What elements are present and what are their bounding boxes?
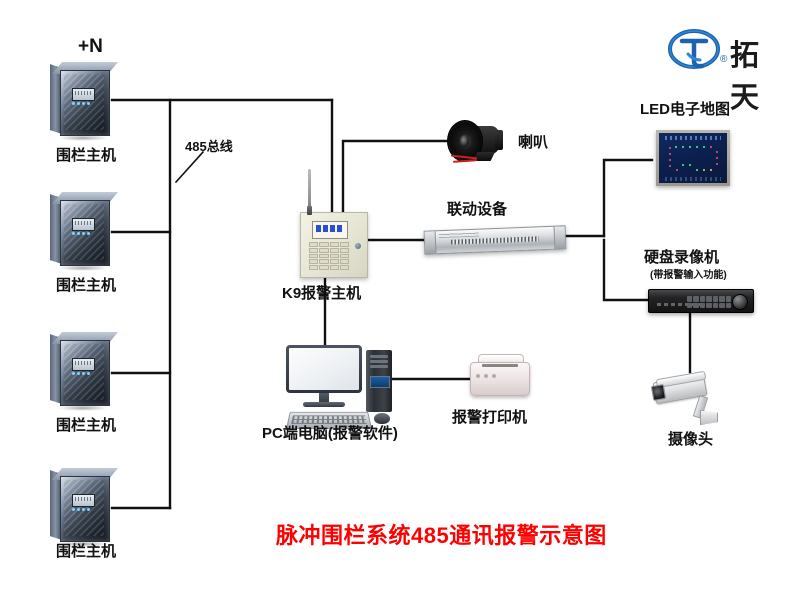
antenna-icon: [308, 169, 311, 215]
camera-mount-base: [700, 410, 718, 425]
fence-host-label-4: 围栏主机: [56, 540, 116, 561]
monitor-screen: [289, 348, 359, 390]
fence-host-icon-1[interactable]: [50, 62, 112, 138]
siren-cap: [495, 130, 503, 150]
monitor-icon[interactable]: [286, 345, 362, 393]
trademark-symbol: ®: [720, 54, 727, 65]
fence-host-indicator-lights: [72, 102, 93, 106]
tuotian-logo-icon: [668, 28, 724, 70]
camera-lens: [651, 384, 666, 401]
printer-paper-slot: [482, 364, 518, 367]
printer-body: [470, 362, 530, 396]
linkage-device-label: 联动设备: [447, 198, 507, 219]
brand-name: 拓天: [730, 32, 761, 116]
desktop-computer-icon[interactable]: [286, 345, 406, 431]
camera-label: 摄像头: [668, 428, 713, 449]
thermal-printer-icon[interactable]: [470, 354, 530, 396]
rack-ear-right: [554, 226, 566, 248]
dvr-label: 硬盘录像机: [644, 246, 719, 267]
fence-host-indicator-lights: [72, 232, 93, 236]
fence-host-icon-2[interactable]: [50, 192, 112, 268]
k9-keypad[interactable]: [309, 242, 349, 270]
dvr-jog-dial[interactable]: [732, 294, 748, 310]
fence-host-indicator-lights: [72, 508, 93, 512]
cctv-camera-icon[interactable]: [652, 372, 730, 428]
diagram-title: 脉冲围栏系统485通讯报警示意图: [276, 518, 607, 550]
led-map-header-text: [665, 136, 721, 140]
printer-label: 报警打印机: [452, 406, 527, 427]
fence-host-label-2: 围栏主机: [56, 274, 116, 295]
fence-host-display: [72, 88, 95, 101]
monitor-foot: [303, 402, 345, 407]
led-map-icon[interactable]: [656, 130, 730, 186]
brand-logo: ® 拓天: [668, 28, 724, 75]
pc-label: PC端电脑(报警软件): [262, 422, 398, 443]
wire-riser-to-dvr: [604, 240, 648, 300]
bus-label-485: 485总线: [185, 136, 233, 155]
fence-host-display: [72, 494, 95, 507]
led-map-screen: [659, 133, 727, 183]
fence-host-display: [72, 218, 95, 231]
fence-host-icon-4[interactable]: [50, 468, 112, 544]
fence-host-display: [72, 358, 95, 371]
siren-wires: [451, 152, 493, 164]
tower-front-display: [370, 376, 390, 388]
printer-buttons[interactable]: [476, 374, 502, 378]
dvr-button-panel[interactable]: [687, 296, 731, 308]
wire-riser-to-ledmap: [604, 160, 652, 236]
led-map-label: LED电子地图: [640, 98, 730, 119]
fence-host-label-1: 围栏主机: [56, 144, 116, 165]
diagram-canvas: ® 拓天 +N 围栏主机 围栏主机 围栏主机: [0, 0, 800, 600]
k9-lock-knob[interactable]: [355, 243, 361, 249]
plus-n-label: +N: [78, 36, 103, 58]
siren-label: 喇叭: [518, 131, 548, 152]
wire-k9-to-siren: [343, 141, 447, 212]
dvr-sub-label: (带报警输入功能): [650, 266, 727, 281]
fence-host-label-3: 围栏主机: [56, 414, 116, 435]
k9-host-label: K9报警主机: [282, 282, 361, 303]
computer-tower-icon[interactable]: [366, 350, 392, 412]
fence-host-icon-3[interactable]: [50, 332, 112, 408]
fence-host-shadow: [58, 135, 108, 141]
led-map-footer-text: [665, 177, 721, 181]
wire-bus-label-leader: [176, 152, 203, 182]
horn-speaker-icon[interactable]: [447, 118, 513, 164]
dvr-icon[interactable]: [648, 289, 754, 313]
fence-host-shadow: [58, 265, 108, 271]
rack-port-row: [451, 236, 539, 244]
rack-marking: [439, 232, 479, 239]
rack-unit-icon[interactable]: [424, 225, 567, 254]
alarm-control-panel-icon[interactable]: [300, 212, 368, 278]
fence-host-shadow: [58, 405, 108, 411]
k9-lcd-display: [312, 221, 348, 239]
fence-host-indicator-lights: [72, 372, 93, 376]
rack-ear-left: [425, 231, 437, 253]
